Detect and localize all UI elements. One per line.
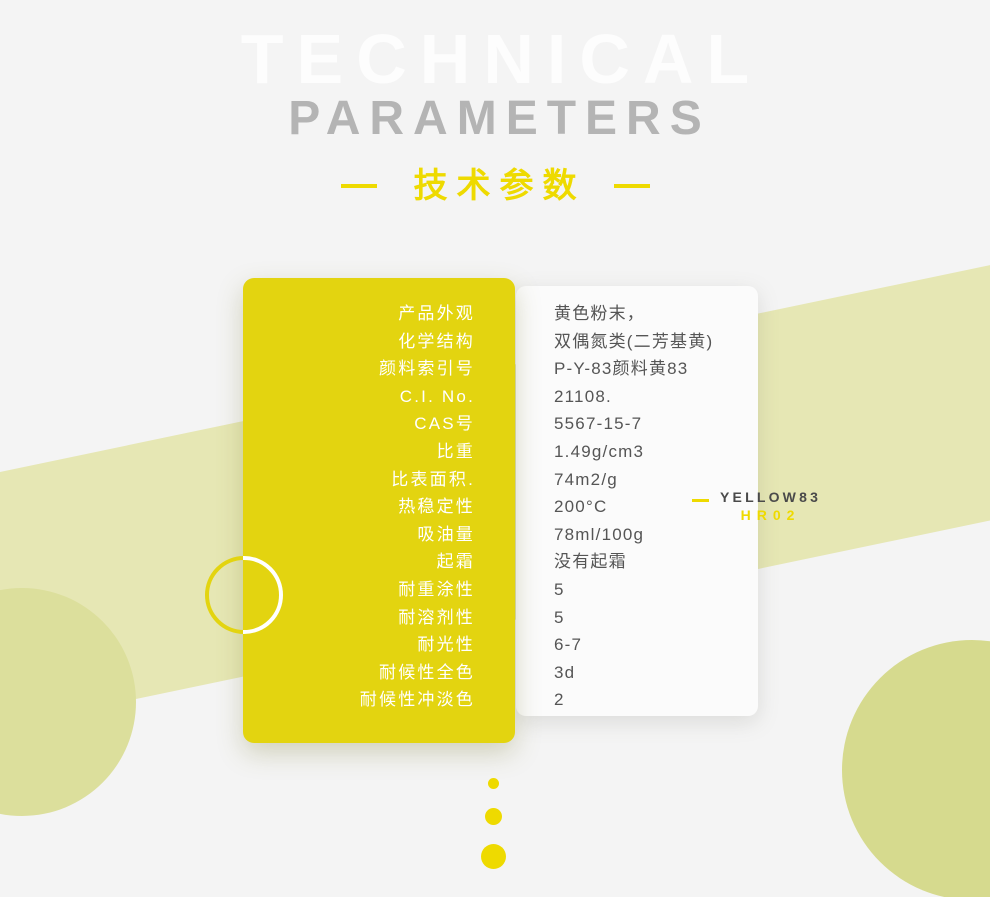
spec-value: 78ml/100g bbox=[554, 521, 764, 549]
dash-left-icon bbox=[341, 184, 377, 188]
spec-label: 比表面积. bbox=[243, 466, 475, 494]
badge-text-group: YELLOW83 HR02 bbox=[720, 488, 821, 524]
spec-value: 5 bbox=[554, 576, 764, 604]
spec-value: 双偶氮类(二芳基黄) bbox=[554, 328, 764, 356]
badge-code: YELLOW83 bbox=[720, 488, 821, 506]
dot-large-icon bbox=[481, 844, 506, 869]
spec-label: 热稳定性 bbox=[243, 493, 475, 521]
badge-subcode: HR02 bbox=[720, 506, 821, 524]
poster-root: TECHNICAL PARAMETERS 技术参数 产品外观化学结构颜料索引号C… bbox=[0, 0, 990, 897]
spec-label: C.I. No. bbox=[243, 383, 475, 411]
spec-label: 耐候性冲淡色 bbox=[243, 686, 475, 714]
title-technical: TECHNICAL bbox=[0, 24, 990, 94]
badge-dash-icon bbox=[692, 499, 709, 502]
spec-value: 5 bbox=[554, 604, 764, 632]
spec-label: 吸油量 bbox=[243, 521, 475, 549]
dot-small-icon bbox=[488, 778, 499, 789]
spec-value: 1.49g/cm3 bbox=[554, 438, 764, 466]
spec-value: 3d bbox=[554, 659, 764, 687]
spec-label: CAS号 bbox=[243, 410, 475, 438]
spec-value: 2 bbox=[554, 686, 764, 714]
spec-label: 比重 bbox=[243, 438, 475, 466]
dash-right-icon bbox=[614, 184, 650, 188]
subtitle-row: 技术参数 bbox=[0, 166, 990, 207]
spec-value: 5567-15-7 bbox=[554, 410, 764, 438]
olive-circle-bottom-right bbox=[842, 640, 990, 897]
subtitle-chinese: 技术参数 bbox=[405, 166, 586, 207]
spec-label: 耐光性 bbox=[243, 631, 475, 659]
spec-label: 耐候性全色 bbox=[243, 659, 475, 687]
spec-label: 起霜 bbox=[243, 548, 475, 576]
spec-label: 颜料索引号 bbox=[243, 355, 475, 383]
title-parameters: PARAMETERS bbox=[0, 95, 990, 143]
spec-value: 没有起霜 bbox=[554, 548, 764, 576]
product-code-badge: YELLOW83 HR02 bbox=[692, 488, 821, 524]
spec-value: P-Y-83颜料黄83 bbox=[554, 355, 764, 383]
spec-value: 黄色粉末， bbox=[554, 300, 764, 328]
spec-label: 耐重涂性 bbox=[243, 576, 475, 604]
spec-label: 耐溶剂性 bbox=[243, 604, 475, 632]
dot-medium-icon bbox=[485, 808, 502, 825]
spec-label: 产品外观 bbox=[243, 300, 475, 328]
spec-value: 21108. bbox=[554, 383, 764, 411]
spec-label: 化学结构 bbox=[243, 328, 475, 356]
spec-value: 6-7 bbox=[554, 631, 764, 659]
spec-label-column: 产品外观化学结构颜料索引号C.I. No.CAS号比重比表面积.热稳定性吸油量起… bbox=[243, 300, 475, 714]
